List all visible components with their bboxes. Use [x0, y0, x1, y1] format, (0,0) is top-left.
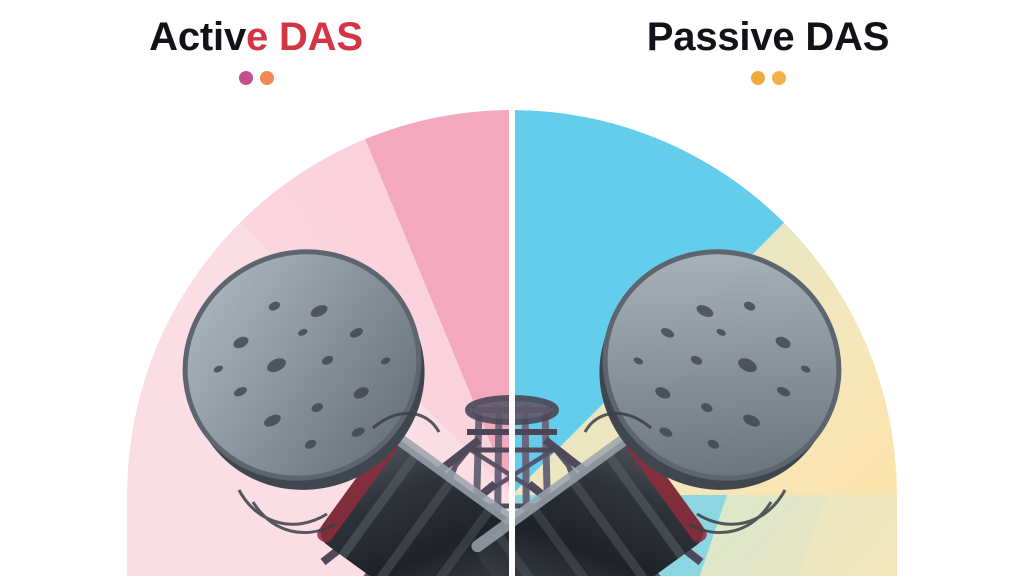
title-active-accent: e DAS	[246, 15, 363, 59]
wedge-active-lower-body	[127, 495, 512, 576]
page-title-active: Active DAS	[149, 16, 363, 58]
comparison-infographic: Active DAS Passive DAS	[0, 0, 1024, 576]
wedge-passive-blend	[512, 495, 827, 576]
dot-icon-magenta	[239, 71, 253, 85]
dot-icon-amber-right	[772, 71, 786, 85]
titles-row: Active DAS Passive DAS	[0, 0, 1024, 112]
dot-icon-orange	[260, 71, 274, 85]
dot-row-passive	[751, 71, 786, 85]
dot-row-active	[239, 71, 274, 85]
panel-header-passive: Passive DAS	[512, 0, 1024, 112]
panel-divider	[509, 108, 515, 576]
dot-icon-amber-left	[751, 71, 765, 85]
page-title-passive: Passive DAS	[647, 16, 889, 58]
panel-header-active: Active DAS	[0, 0, 512, 112]
title-passive-dark: Passive DAS	[647, 15, 889, 59]
title-active-dark: Activ	[149, 15, 246, 59]
